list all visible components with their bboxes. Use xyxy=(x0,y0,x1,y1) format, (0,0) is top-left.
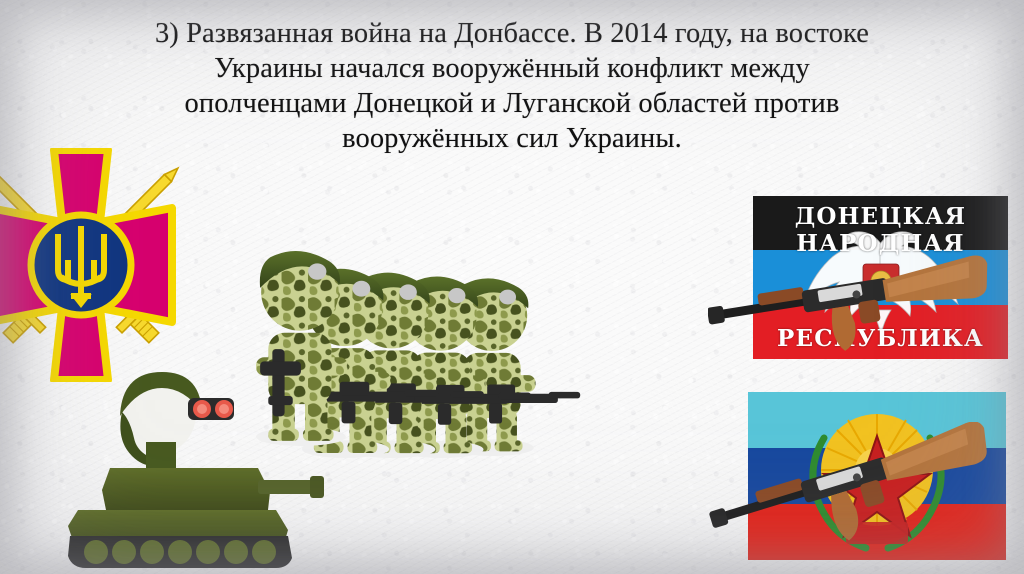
slide-vignette xyxy=(0,0,1024,574)
presentation-slide: 3) Развязанная война на Донбассе. В 2014… xyxy=(0,0,1024,574)
